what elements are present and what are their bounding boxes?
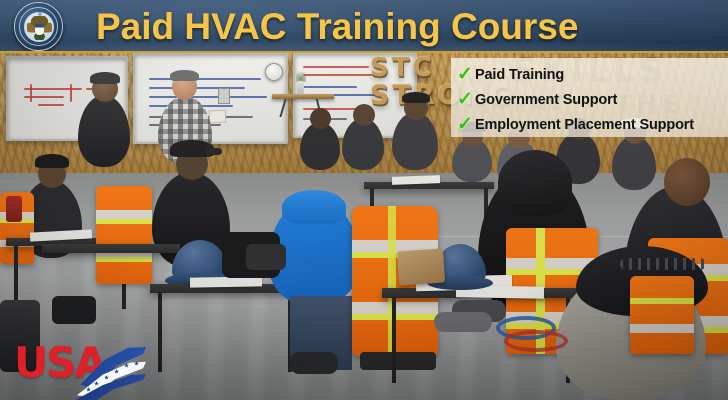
red-ring xyxy=(504,330,568,352)
paper-fg-left xyxy=(190,276,262,287)
check-icon: ✓ xyxy=(457,65,475,84)
instructor-right-hair xyxy=(170,70,199,81)
checklist-label: Paid Training xyxy=(475,67,564,83)
seal-circular-text xyxy=(15,3,62,50)
cap-brim xyxy=(206,148,222,155)
chair-back-bar xyxy=(360,352,436,370)
vest-fg-right xyxy=(630,276,694,354)
shoe-right-2 xyxy=(434,312,492,332)
student-back-3-hair xyxy=(402,92,430,103)
pinned-paper xyxy=(209,110,227,124)
checklist-item-paid-training: ✓ Paid Training xyxy=(457,62,728,87)
usa-logo: USA xyxy=(14,341,144,393)
instructor-left-hair xyxy=(90,72,120,84)
page-title: Paid HVAC Training Course xyxy=(96,1,578,53)
student-mid-left-hair xyxy=(35,154,69,168)
student-right-head xyxy=(664,158,710,206)
sleeve-studs xyxy=(620,258,706,270)
checklist-item-employment-placement: ✓ Employment Placement Support xyxy=(457,112,728,137)
check-icon: ✓ xyxy=(457,90,475,109)
vase xyxy=(297,81,304,95)
title-banner: Paid HVAC Training Course xyxy=(0,0,728,53)
table-fg-right-leg-1 xyxy=(392,297,396,383)
table-fg-left-leg-1 xyxy=(158,292,162,372)
hvac-training-poster: STC STRONG SKILLS PAY THE xyxy=(0,0,728,400)
usa-logo-swoosh xyxy=(76,347,146,391)
vest-mid-center xyxy=(96,186,152,284)
checklist-label: Employment Placement Support xyxy=(475,117,694,133)
student-back-1-head xyxy=(310,108,331,129)
paper-back-1 xyxy=(392,175,440,185)
benefits-checklist: ✓ Paid Training ✓ Government Support ✓ E… xyxy=(451,58,728,137)
checklist-item-government-support: ✓ Government Support xyxy=(457,87,728,112)
checklist-label: Government Support xyxy=(475,92,617,108)
wall-clock-icon xyxy=(265,63,283,81)
swoosh-stars xyxy=(78,361,144,393)
wall-shelf xyxy=(272,94,334,99)
plant-stem xyxy=(296,68,306,82)
shoe-center-fg xyxy=(290,352,338,374)
paper-bag xyxy=(397,248,445,285)
table-mid-center xyxy=(42,244,180,253)
wall-panel-box xyxy=(218,88,230,104)
check-icon: ✓ xyxy=(457,115,475,134)
shoe-center xyxy=(246,244,286,270)
backpack-under-table xyxy=(52,296,96,324)
student-hijab-head-cover xyxy=(498,150,572,216)
us-government-seal-icon xyxy=(14,2,63,51)
student-blue-hoodie-hood xyxy=(282,190,346,224)
thermos-red-left xyxy=(6,196,22,222)
student-back-2-head xyxy=(353,104,375,126)
